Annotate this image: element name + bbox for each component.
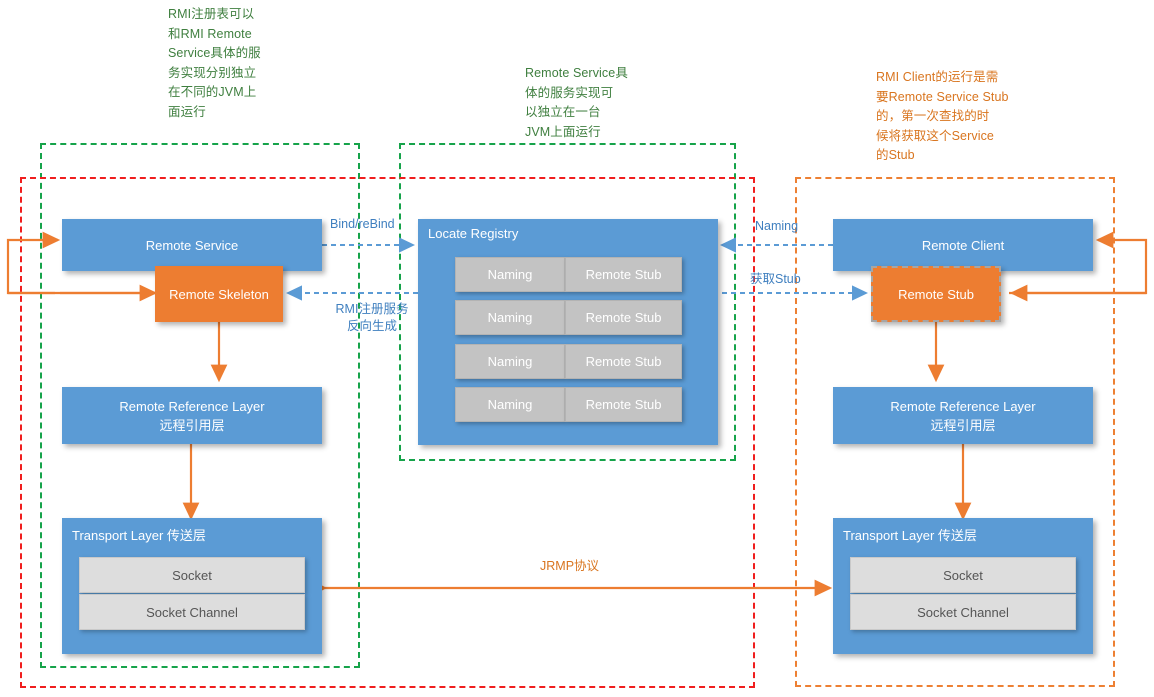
client-socket-box[interactable]: Socket [850,557,1076,593]
label-naming: Naming [755,218,798,235]
box-remote-service[interactable]: Remote Service [62,219,322,271]
box-server-reference-layer[interactable]: Remote Reference Layer 远程引用层 [62,387,322,444]
registry-naming-1[interactable]: Naming [455,300,565,335]
registry-stub-1[interactable]: Remote Stub [565,300,682,335]
label-rmi-reverse-generate: RMI注册服务 反向生成 [322,301,422,335]
label-bind-rebind: Bind/reBind [330,216,395,233]
client-socket-channel-box[interactable]: Socket Channel [850,594,1076,630]
locate-registry-title: Locate Registry [428,226,518,241]
server-socket-box[interactable]: Socket [79,557,305,593]
annotation-registry-note: RMI注册表可以 和RMI Remote Service具体的服 务实现分别独立… [168,5,348,122]
server-transport-layer-title: Transport Layer 传送层 [72,525,206,544]
box-remote-skeleton[interactable]: Remote Skeleton [155,266,283,322]
registry-naming-3[interactable]: Naming [455,387,565,422]
registry-stub-2[interactable]: Remote Stub [565,344,682,379]
registry-naming-0[interactable]: Naming [455,257,565,292]
box-client-reference-layer[interactable]: Remote Reference Layer 远程引用层 [833,387,1093,444]
client-transport-layer-title: Transport Layer 传送层 [843,525,977,544]
box-remote-client[interactable]: Remote Client [833,219,1093,271]
label-fetch-stub: 获取Stub [750,271,801,288]
registry-stub-3[interactable]: Remote Stub [565,387,682,422]
registry-naming-2[interactable]: Naming [455,344,565,379]
rmi-architecture-diagram: RMI注册表可以 和RMI Remote Service具体的服 务实现分别独立… [0,0,1154,697]
server-socket-channel-box[interactable]: Socket Channel [79,594,305,630]
label-jrmp-protocol: JRMP协议 [540,558,599,575]
box-remote-stub[interactable]: Remote Stub [871,266,1001,322]
registry-stub-0[interactable]: Remote Stub [565,257,682,292]
annotation-client-note: RMI Client的运行是需 要Remote Service Stub 的，第… [876,68,1066,166]
annotation-service-note: Remote Service具 体的服务实现可 以独立在一台 JVM上面运行 [525,64,705,142]
